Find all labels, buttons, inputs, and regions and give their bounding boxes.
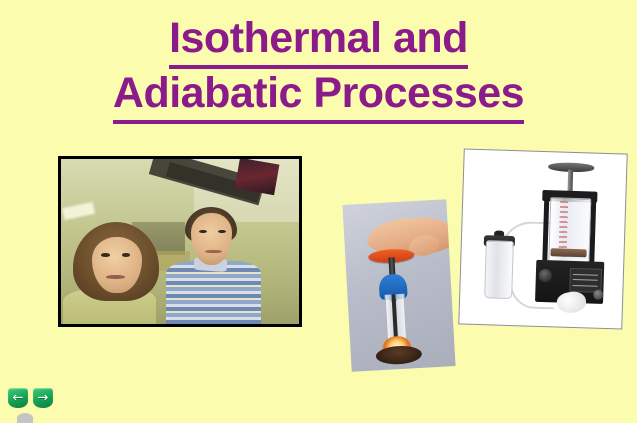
page-title: Isothermal and Adiabatic Processes [0, 14, 637, 124]
photo-woman-eye-left [101, 253, 110, 257]
photo-poster [235, 157, 280, 195]
photo-woman-eye-right [122, 253, 131, 257]
title-line-2-text: Adiabatic Processes [113, 69, 524, 124]
nav-shadow [17, 413, 33, 423]
photo-woman-face [92, 237, 142, 293]
title-line-1-text: Isothermal and [169, 14, 468, 69]
navigation-bar: ← → [8, 388, 53, 408]
left-arrow-icon: ← [13, 392, 24, 405]
apparatus-jar [484, 241, 514, 300]
classroom-photo-two-people [58, 156, 302, 327]
back-button[interactable]: ← [8, 388, 28, 408]
apparatus-gear [593, 289, 603, 300]
apparatus-piston [551, 248, 587, 258]
photo-man-eye-left [199, 230, 207, 233]
title-line-1: Isothermal and [0, 14, 637, 69]
fire-syringe-demonstration [342, 199, 455, 372]
photo-man-mouth [205, 250, 222, 253]
gas-law-apparatus [458, 148, 627, 329]
right-arrow-icon: → [38, 392, 49, 405]
photo-woman-mouth [106, 275, 125, 279]
forward-button[interactable]: → [33, 388, 53, 408]
title-line-2: Adiabatic Processes [0, 69, 637, 124]
presentation-slide: Isothermal and Adiabatic Processes [0, 0, 637, 423]
